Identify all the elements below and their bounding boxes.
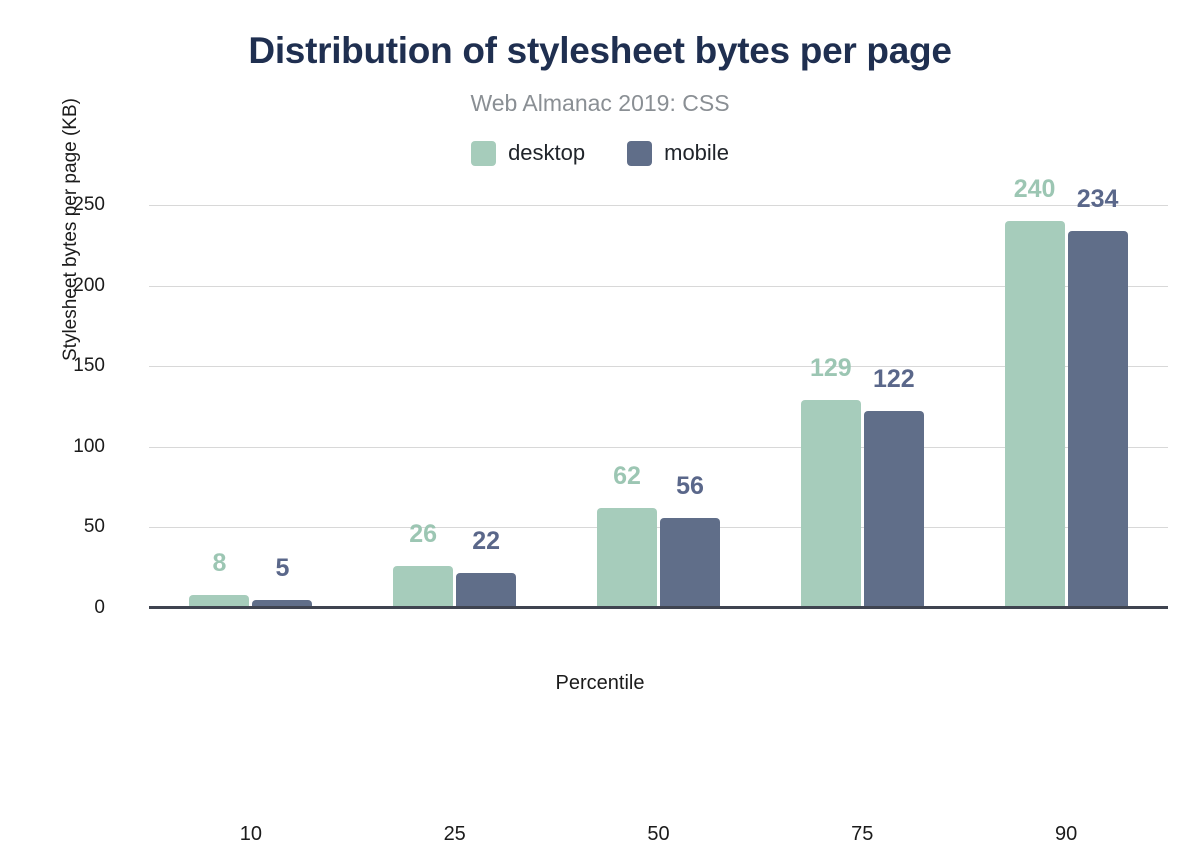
bar-label-mobile-25: 22 — [472, 527, 500, 556]
y-axis-tick-label: 200 — [25, 275, 105, 297]
bar-desktop-50[interactable] — [597, 508, 657, 608]
bar-desktop-25[interactable] — [393, 566, 453, 608]
legend-swatch-mobile — [627, 141, 652, 166]
legend-swatch-desktop — [471, 141, 496, 166]
x-axis-line — [149, 606, 1168, 609]
bar-mobile-50[interactable] — [660, 518, 720, 608]
plot-area: Stylesheet bytes per page (KB) 050100150… — [149, 205, 1168, 608]
y-axis-tick-label: 250 — [25, 194, 105, 216]
bar-label-mobile-50: 56 — [676, 472, 704, 501]
legend-label-mobile: mobile — [664, 140, 729, 166]
bar-mobile-75[interactable] — [864, 411, 924, 608]
bar-label-desktop-75: 129 — [810, 354, 852, 383]
bar-label-mobile-10: 5 — [275, 554, 289, 583]
y-axis-tick-label: 150 — [25, 355, 105, 377]
legend-label-desktop: desktop — [508, 140, 585, 166]
bar-label-desktop-50: 62 — [613, 462, 641, 491]
y-axis-tick-label: 0 — [25, 597, 105, 619]
x-axis-tick-label: 50 — [647, 823, 669, 846]
bar-desktop-90[interactable] — [1005, 221, 1065, 608]
bar-label-mobile-90: 234 — [1077, 185, 1119, 214]
chart-legend: desktop mobile — [0, 140, 1200, 166]
bar-label-desktop-90: 240 — [1014, 175, 1056, 204]
y-axis-tick-label: 100 — [25, 436, 105, 458]
bar-desktop-75[interactable] — [801, 400, 861, 608]
legend-item-mobile[interactable]: mobile — [627, 140, 729, 166]
chart-subtitle: Web Almanac 2019: CSS — [0, 90, 1200, 117]
bar-mobile-90[interactable] — [1068, 231, 1128, 608]
x-axis-tick-label: 75 — [851, 823, 873, 846]
y-axis-title: Stylesheet bytes per page (KB) — [60, 98, 82, 361]
legend-item-desktop[interactable]: desktop — [471, 140, 585, 166]
bar-label-desktop-10: 8 — [212, 549, 226, 578]
chart-title: Distribution of stylesheet bytes per pag… — [0, 30, 1200, 72]
x-axis-tick-label: 10 — [240, 823, 262, 846]
bar-label-desktop-25: 26 — [409, 520, 437, 549]
y-axis-tick-label: 50 — [25, 516, 105, 538]
x-axis-title: Percentile — [0, 672, 1200, 695]
x-axis-tick-label: 25 — [444, 823, 466, 846]
gridline — [149, 205, 1168, 206]
bar-mobile-25[interactable] — [456, 573, 516, 608]
bar-label-mobile-75: 122 — [873, 365, 915, 394]
chart-container: Distribution of stylesheet bytes per pag… — [0, 0, 1200, 742]
x-axis-tick-label: 90 — [1055, 823, 1077, 846]
